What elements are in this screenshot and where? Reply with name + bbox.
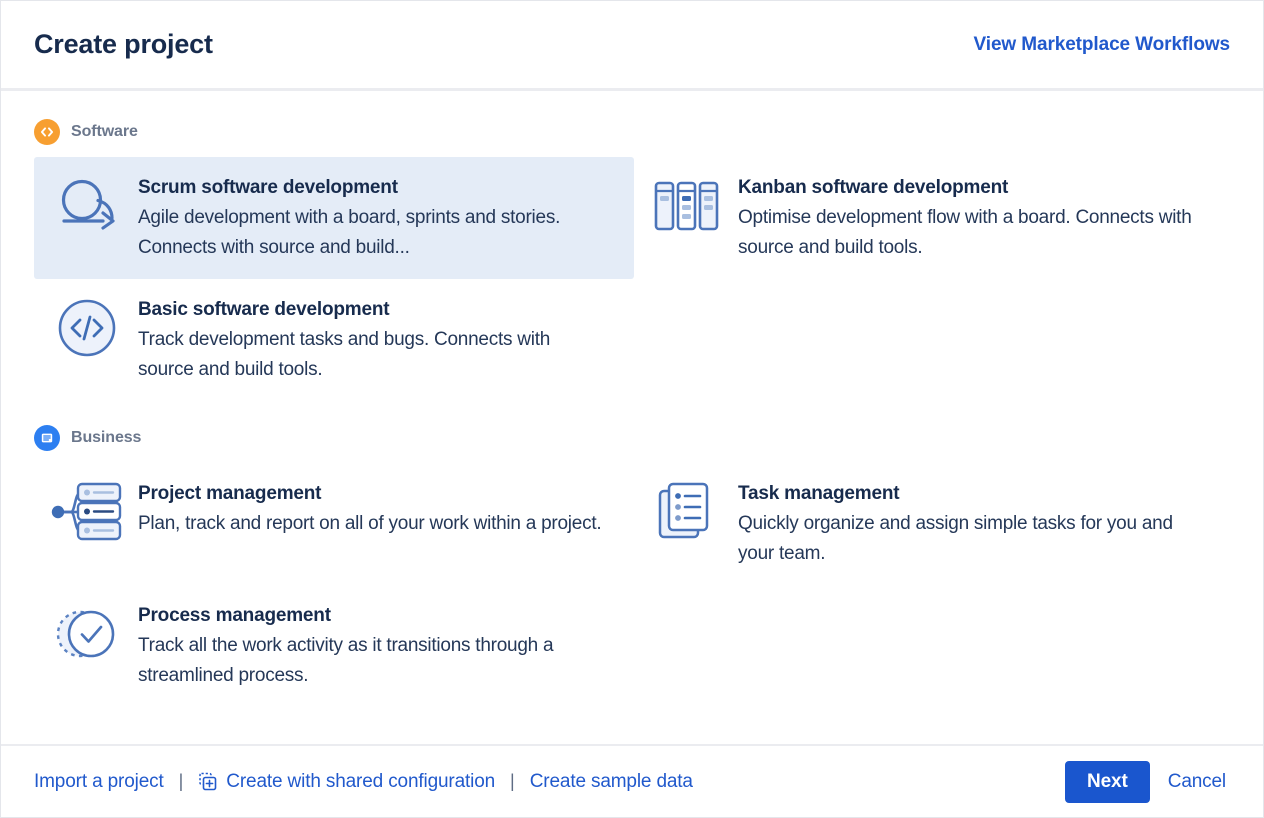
- dialog-footer: Import a project | Create with shared co…: [1, 744, 1263, 817]
- create-project-dialog: Create project View Marketplace Workflow…: [0, 0, 1264, 818]
- branching-rows-icon: [51, 476, 123, 548]
- template-title-basic-software: Basic software development: [138, 298, 608, 322]
- code-circle-icon: [51, 292, 123, 364]
- template-title-project-management: Project management: [138, 482, 601, 506]
- template-card-project-management[interactable]: Project management Plan, track and repor…: [34, 463, 634, 585]
- import-a-project-link[interactable]: Import a project: [34, 771, 164, 793]
- section-software: Software Scrum software development: [34, 119, 1230, 401]
- template-text-project-management: Project management Plan, track and repor…: [138, 480, 601, 539]
- template-text-basic-software: Basic software development Track develop…: [138, 296, 608, 385]
- next-button[interactable]: Next: [1065, 761, 1150, 803]
- template-title-kanban: Kanban software development: [738, 176, 1208, 200]
- template-card-kanban[interactable]: Kanban software development Optimise dev…: [634, 157, 1234, 279]
- template-text-kanban: Kanban software development Optimise dev…: [738, 174, 1208, 263]
- template-description-process-management: Track all the work activity as it transi…: [138, 631, 608, 691]
- template-description-basic-software: Track development tasks and bugs. Connec…: [138, 325, 608, 385]
- template-title-scrum: Scrum software development: [138, 176, 608, 200]
- section-header-business: Business: [34, 425, 1230, 451]
- section-label-software: Software: [71, 123, 138, 141]
- stacked-checklist-pages-icon: [651, 476, 723, 548]
- document-lines-icon: [34, 425, 60, 451]
- create-with-shared-configuration-link[interactable]: Create with shared configuration: [198, 771, 495, 793]
- section-business: Business: [34, 425, 1230, 707]
- footer-links: Import a project | Create with shared co…: [34, 771, 693, 793]
- template-grid-software: Scrum software development Agile develop…: [34, 157, 1230, 401]
- template-description-kanban: Optimise development flow with a board. …: [738, 203, 1208, 263]
- create-sample-data-link[interactable]: Create sample data: [530, 771, 693, 793]
- cancel-button[interactable]: Cancel: [1164, 765, 1230, 799]
- footer-separator-1: |: [179, 771, 184, 792]
- view-marketplace-workflows-link[interactable]: View Marketplace Workflows: [974, 34, 1230, 56]
- page-title: Create project: [34, 29, 213, 60]
- template-description-task-management: Quickly organize and assign simple tasks…: [738, 509, 1208, 569]
- template-grid-empty-slot: [634, 585, 1234, 707]
- template-title-process-management: Process management: [138, 604, 608, 628]
- section-header-software: Software: [34, 119, 1230, 145]
- template-description-project-management: Plan, track and report on all of your wo…: [138, 509, 601, 539]
- kanban-board-columns-icon: [651, 170, 723, 242]
- create-with-shared-configuration-label: Create with shared configuration: [226, 771, 495, 793]
- template-card-process-management[interactable]: Process management Track all the work ac…: [34, 585, 634, 707]
- template-card-scrum[interactable]: Scrum software development Agile develop…: [34, 157, 634, 279]
- template-grid-business: Project management Plan, track and repor…: [34, 463, 1230, 707]
- template-grid-empty-slot: [634, 279, 1234, 401]
- dialog-header: Create project View Marketplace Workflow…: [1, 1, 1263, 91]
- template-text-scrum: Scrum software development Agile develop…: [138, 174, 608, 263]
- section-label-business: Business: [71, 429, 141, 447]
- footer-separator-2: |: [510, 771, 515, 792]
- template-text-task-management: Task management Quickly organize and ass…: [738, 480, 1208, 569]
- dialog-body: Software Scrum software development: [1, 91, 1263, 744]
- duplicate-plus-icon: [198, 772, 218, 792]
- template-card-task-management[interactable]: Task management Quickly organize and ass…: [634, 463, 1234, 585]
- template-card-basic-software[interactable]: Basic software development Track develop…: [34, 279, 634, 401]
- sprint-loop-arrow-icon: [51, 170, 123, 242]
- template-title-task-management: Task management: [738, 482, 1208, 506]
- template-description-scrum: Agile development with a board, sprints …: [138, 203, 608, 263]
- dashed-circle-check-icon: [51, 598, 123, 670]
- footer-actions: Next Cancel: [1065, 761, 1230, 803]
- code-brackets-icon: [34, 119, 60, 145]
- template-text-process-management: Process management Track all the work ac…: [138, 602, 608, 691]
